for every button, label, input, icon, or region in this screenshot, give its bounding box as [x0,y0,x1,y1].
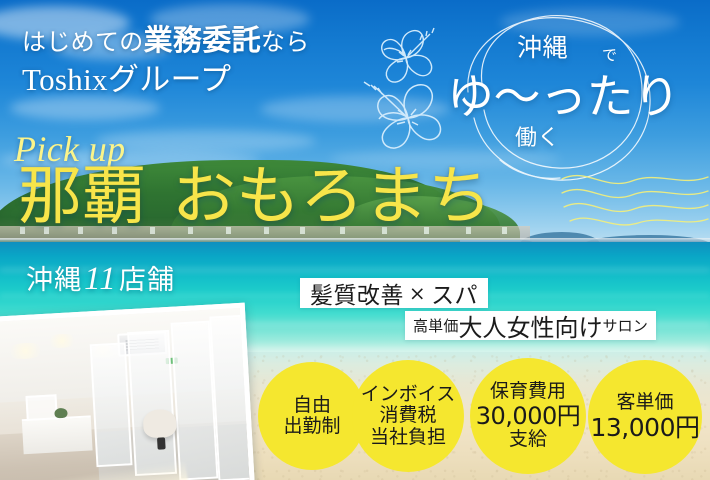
copy-yuttari: ゆ〜ったり [447,58,680,127]
store-count-number: 11 [82,261,119,297]
bar2-post: サロン [603,315,649,336]
circle-free-shift[interactable]: 自由 出勤制 [258,362,366,470]
headline-suffix: なら [261,30,310,56]
location-secondary: おもろまち [172,160,492,234]
circle-line: 消費税 [379,405,436,426]
bar1-symbol: × [404,281,431,305]
circle-amount: 30,000円 [476,403,581,430]
circle-avg-spend[interactable]: 客単価 13,000円 [588,360,702,474]
headline-strong: 業務委託 [144,25,261,57]
cloud-shape [96,130,316,152]
circle-line: 支給 [509,429,547,450]
headline-block: はじめての業務委託なら Toshixグループ [22,26,310,100]
benefit-circle-group: 自由 出勤制 インボイス 消費税 当社負担 保育費用 30,000円 支給 客単… [0,350,710,480]
circle-line: 自由 [293,395,331,416]
circle-line: インボイス [361,384,455,405]
circle-childcare[interactable]: 保育費用 30,000円 支給 [470,358,586,474]
headline-line-1: はじめての業務委託なら [22,26,310,58]
bar-salon-type: 高単価大人女性向けサロン [405,311,656,340]
copy-hataraku: 働く [515,120,560,152]
headline-prefix: はじめての [22,30,144,56]
bar2-main: 大人女性向け [459,308,603,343]
store-count-suffix: 店舗 [119,265,175,295]
circle-amount: 13,000円 [591,414,700,442]
headline-line-2: Toshixグループ [22,60,310,100]
circle-line: 客単価 [616,392,673,413]
location-primary: 那覇 [18,160,146,234]
circle-line: 保育費用 [490,381,566,402]
okinawa-lifestyle-copy: 沖縄 で ゆ〜ったり 働く [455,28,705,183]
store-count-label: 沖縄11店舗 [26,258,175,298]
circle-invoice-tax[interactable]: インボイス 消費税 当社負担 [352,360,464,472]
circle-line: 出勤制 [283,416,340,437]
bar1-left: 髪質改善 [310,276,404,310]
store-count-prefix: 沖縄 [26,265,82,295]
bar2-pre: 高単価 [413,315,459,336]
recruitment-banner: はじめての業務委託なら Toshixグループ Pick up 那覇おもろまち 沖… [0,0,710,480]
bar1-right: スパ [431,276,478,310]
circle-line: 当社負担 [370,427,446,448]
bar-treatment-spa: 髪質改善×スパ [300,278,488,308]
location-headline: 那覇おもろまち [18,163,492,231]
